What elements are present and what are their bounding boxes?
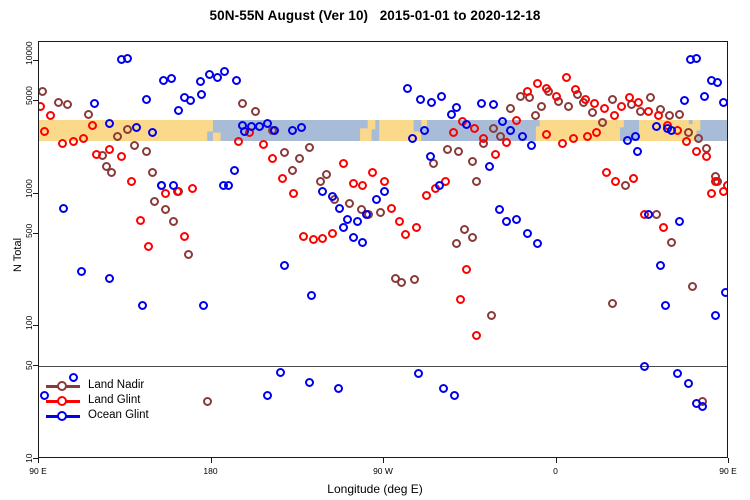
data-point bbox=[268, 154, 277, 163]
data-point bbox=[305, 378, 314, 387]
data-point bbox=[318, 187, 327, 196]
legend-label: Land Glint bbox=[88, 393, 140, 408]
data-point bbox=[711, 311, 720, 320]
data-point bbox=[288, 166, 297, 175]
data-point bbox=[234, 137, 243, 146]
data-point bbox=[533, 239, 542, 248]
data-point bbox=[719, 98, 728, 107]
data-point bbox=[288, 126, 297, 135]
data-point bbox=[380, 187, 389, 196]
y-axis-label: N Total bbox=[12, 237, 24, 271]
data-point bbox=[410, 275, 419, 284]
data-point bbox=[345, 199, 354, 208]
data-point bbox=[387, 204, 396, 213]
data-point bbox=[77, 267, 86, 276]
x-tick-mark bbox=[556, 458, 557, 463]
data-point bbox=[698, 402, 707, 411]
data-point bbox=[230, 166, 239, 175]
data-point bbox=[450, 391, 459, 400]
data-point bbox=[435, 181, 444, 190]
data-point bbox=[148, 128, 157, 137]
data-point bbox=[452, 239, 461, 248]
data-point bbox=[590, 99, 599, 108]
data-point bbox=[88, 121, 97, 130]
data-point bbox=[652, 210, 661, 219]
x-tick-mark bbox=[383, 458, 384, 463]
data-point bbox=[688, 282, 697, 291]
data-point bbox=[372, 195, 381, 204]
data-point bbox=[426, 152, 435, 161]
data-point bbox=[713, 78, 722, 87]
legend-item-land-glint[interactable]: Land Glint bbox=[46, 393, 149, 408]
data-point bbox=[58, 139, 67, 148]
data-point bbox=[353, 217, 362, 226]
data-point bbox=[502, 138, 511, 147]
data-point bbox=[470, 124, 479, 133]
data-point bbox=[123, 125, 132, 134]
data-point bbox=[527, 141, 536, 150]
data-point bbox=[186, 96, 195, 105]
data-point bbox=[707, 189, 716, 198]
data-point bbox=[307, 291, 316, 300]
data-point bbox=[523, 229, 532, 238]
data-point bbox=[144, 242, 153, 251]
data-point bbox=[238, 99, 247, 108]
data-point bbox=[502, 217, 511, 226]
data-point bbox=[702, 152, 711, 161]
data-point bbox=[656, 261, 665, 270]
data-point bbox=[634, 98, 643, 107]
data-point bbox=[105, 145, 114, 154]
data-point bbox=[127, 177, 136, 186]
data-point bbox=[602, 168, 611, 177]
data-point bbox=[416, 95, 425, 104]
data-point bbox=[117, 152, 126, 161]
data-point bbox=[69, 137, 78, 146]
data-point bbox=[408, 134, 417, 143]
data-point bbox=[161, 189, 170, 198]
data-point bbox=[299, 232, 308, 241]
data-point bbox=[454, 147, 463, 156]
data-point bbox=[611, 177, 620, 186]
reference-line bbox=[39, 366, 727, 367]
data-point bbox=[680, 96, 689, 105]
data-point bbox=[569, 134, 578, 143]
data-point bbox=[675, 110, 684, 119]
data-point bbox=[472, 331, 481, 340]
data-point bbox=[412, 223, 421, 232]
data-point bbox=[427, 98, 436, 107]
data-point bbox=[403, 84, 412, 93]
data-point bbox=[349, 233, 358, 242]
data-point bbox=[220, 67, 229, 76]
data-point bbox=[318, 234, 327, 243]
data-point bbox=[79, 134, 88, 143]
legend-marker bbox=[57, 381, 67, 391]
data-point bbox=[142, 95, 151, 104]
data-point bbox=[437, 92, 446, 101]
data-point bbox=[462, 120, 471, 129]
data-point bbox=[665, 111, 674, 120]
data-point bbox=[439, 384, 448, 393]
data-point bbox=[199, 301, 208, 310]
data-point bbox=[339, 159, 348, 168]
data-point bbox=[489, 100, 498, 109]
data-point bbox=[167, 74, 176, 83]
data-point bbox=[631, 132, 640, 141]
chart-title: 50N-55N August (Ver 10) 2015-01-01 to 20… bbox=[0, 8, 750, 23]
data-point bbox=[38, 102, 45, 111]
data-point bbox=[600, 104, 609, 113]
data-point bbox=[401, 230, 410, 239]
data-point bbox=[468, 157, 477, 166]
data-point bbox=[456, 295, 465, 304]
legend-label: Land Nadir bbox=[88, 378, 144, 393]
x-tick-label: 90 W bbox=[353, 466, 413, 476]
data-point bbox=[646, 93, 655, 102]
data-point bbox=[334, 384, 343, 393]
data-point bbox=[305, 143, 314, 152]
data-point bbox=[452, 103, 461, 112]
data-point bbox=[506, 104, 515, 113]
data-point bbox=[240, 127, 249, 136]
data-point bbox=[558, 139, 567, 148]
data-point bbox=[63, 100, 72, 109]
data-point bbox=[142, 147, 151, 156]
data-point bbox=[196, 77, 205, 86]
data-point bbox=[169, 217, 178, 226]
data-point bbox=[462, 265, 471, 274]
data-point bbox=[123, 54, 132, 63]
data-point bbox=[138, 301, 147, 310]
data-point bbox=[694, 134, 703, 143]
data-point bbox=[335, 204, 344, 213]
data-point bbox=[644, 210, 653, 219]
data-point bbox=[692, 54, 701, 63]
x-tick-label: 90 E bbox=[8, 466, 68, 476]
data-point bbox=[130, 141, 139, 150]
data-point bbox=[38, 87, 47, 96]
data-point bbox=[322, 170, 331, 179]
data-point bbox=[640, 362, 649, 371]
data-point bbox=[608, 299, 617, 308]
data-point bbox=[533, 79, 542, 88]
data-point bbox=[583, 132, 592, 141]
data-point bbox=[161, 205, 170, 214]
data-point bbox=[309, 235, 318, 244]
data-point bbox=[224, 181, 233, 190]
data-point bbox=[184, 250, 193, 259]
data-point bbox=[449, 128, 458, 137]
data-point bbox=[414, 369, 423, 378]
data-point bbox=[197, 90, 206, 99]
data-point bbox=[629, 174, 638, 183]
data-point bbox=[358, 238, 367, 247]
data-point bbox=[588, 108, 597, 117]
data-point bbox=[654, 111, 663, 120]
data-point bbox=[581, 95, 590, 104]
data-point bbox=[203, 397, 212, 406]
legend-item-land-nadir[interactable]: Land Nadir bbox=[46, 378, 149, 393]
data-point bbox=[90, 99, 99, 108]
data-point bbox=[472, 177, 481, 186]
data-point bbox=[395, 217, 404, 226]
data-point bbox=[495, 205, 504, 214]
data-point bbox=[368, 168, 377, 177]
data-point bbox=[659, 223, 668, 232]
data-point bbox=[397, 278, 406, 287]
legend-label: Ocean Glint bbox=[88, 408, 149, 423]
data-point bbox=[339, 223, 348, 232]
legend: Land NadirLand GlintOcean Glint bbox=[46, 378, 149, 423]
data-point bbox=[380, 177, 389, 186]
data-point bbox=[491, 150, 500, 159]
data-point bbox=[280, 148, 289, 157]
data-point bbox=[148, 168, 157, 177]
data-point bbox=[711, 177, 720, 186]
x-tick-label: 180 bbox=[181, 466, 241, 476]
data-point bbox=[608, 95, 617, 104]
data-point bbox=[59, 204, 68, 213]
data-point bbox=[531, 111, 540, 120]
x-tick-label: 0 bbox=[526, 466, 586, 476]
data-point bbox=[358, 181, 367, 190]
data-point bbox=[420, 126, 429, 135]
data-point bbox=[376, 208, 385, 217]
data-point bbox=[562, 73, 571, 82]
data-point bbox=[107, 168, 116, 177]
data-point bbox=[468, 233, 477, 242]
data-point bbox=[644, 107, 653, 116]
data-point bbox=[328, 229, 337, 238]
data-point bbox=[721, 288, 728, 297]
data-point bbox=[633, 147, 642, 156]
data-point bbox=[54, 98, 63, 107]
data-point bbox=[46, 111, 55, 120]
data-point bbox=[84, 110, 93, 119]
legend-marker bbox=[57, 411, 67, 421]
x-tick-label: 90 E bbox=[698, 466, 750, 476]
x-axis-label: Longitude (deg E) bbox=[0, 482, 750, 496]
data-point bbox=[692, 147, 701, 156]
data-point bbox=[259, 140, 268, 149]
data-point bbox=[684, 379, 693, 388]
legend-item-ocean-glint[interactable]: Ocean Glint bbox=[46, 408, 149, 423]
data-point bbox=[675, 217, 684, 226]
data-point bbox=[169, 181, 178, 190]
data-point bbox=[485, 162, 494, 171]
data-point bbox=[661, 301, 670, 310]
data-point bbox=[349, 179, 358, 188]
data-point bbox=[460, 225, 469, 234]
data-point bbox=[276, 368, 285, 377]
data-point bbox=[278, 174, 287, 183]
data-point bbox=[150, 197, 159, 206]
data-point bbox=[251, 107, 260, 116]
data-point bbox=[610, 111, 619, 120]
data-point bbox=[673, 369, 682, 378]
data-point bbox=[518, 132, 527, 141]
data-point bbox=[422, 191, 431, 200]
data-point bbox=[682, 137, 691, 146]
legend-marker bbox=[57, 396, 67, 406]
data-point bbox=[537, 102, 546, 111]
data-point bbox=[564, 102, 573, 111]
data-point bbox=[667, 238, 676, 247]
x-tick-mark bbox=[211, 458, 212, 463]
data-point bbox=[617, 102, 626, 111]
data-point bbox=[136, 216, 145, 225]
data-point bbox=[289, 189, 298, 198]
chart-root: 50N-55N August (Ver 10) 2015-01-01 to 20… bbox=[0, 0, 750, 500]
data-point bbox=[487, 311, 496, 320]
data-point bbox=[621, 181, 630, 190]
data-point bbox=[232, 76, 241, 85]
data-point bbox=[477, 99, 486, 108]
data-point bbox=[105, 274, 114, 283]
data-point bbox=[700, 92, 709, 101]
data-point bbox=[92, 150, 101, 159]
data-point bbox=[263, 391, 272, 400]
x-tick-mark bbox=[38, 458, 39, 463]
data-point bbox=[174, 106, 183, 115]
data-point bbox=[188, 184, 197, 193]
data-point bbox=[489, 124, 498, 133]
data-point bbox=[280, 261, 289, 270]
x-tick-mark bbox=[728, 458, 729, 463]
data-point bbox=[180, 232, 189, 241]
data-point bbox=[512, 116, 521, 125]
data-point bbox=[295, 154, 304, 163]
data-point bbox=[512, 215, 521, 224]
data-point bbox=[443, 145, 452, 154]
